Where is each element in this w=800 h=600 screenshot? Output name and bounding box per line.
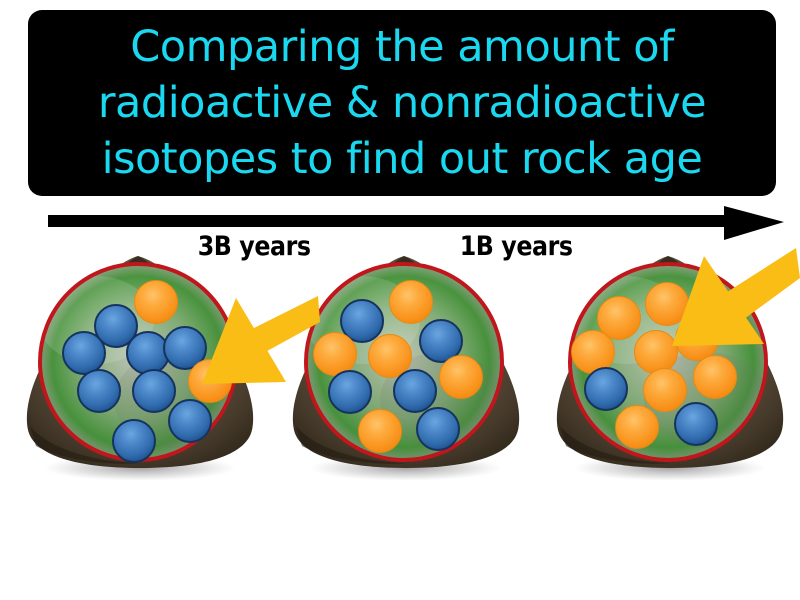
radioactive-isotope-sphere	[328, 370, 372, 414]
title-line-1: Comparing the amount of	[130, 19, 673, 75]
callout-arrow-icon-right	[668, 248, 800, 356]
timeline-arrow-icon	[48, 206, 784, 240]
radioactive-isotope-sphere	[132, 369, 176, 413]
nonradioactive-isotope-sphere	[615, 405, 659, 449]
radioactive-isotope-sphere	[416, 407, 460, 451]
title-line-2: radioactive & nonradioactive	[98, 75, 706, 131]
nonradioactive-isotope-sphere	[643, 368, 687, 412]
radioactive-isotope-sphere	[584, 367, 628, 411]
radioactive-isotope-sphere	[168, 399, 212, 443]
radioactive-isotope-sphere	[674, 402, 718, 446]
callout-arrow-icon-left	[200, 296, 320, 392]
nonradioactive-isotope-sphere	[693, 355, 737, 399]
nonradioactive-isotope-sphere	[439, 355, 483, 399]
radioactive-isotope-sphere	[393, 369, 437, 413]
title-banner: Comparing the amount of radioactive & no…	[28, 10, 776, 196]
radioactive-isotope-sphere	[77, 369, 121, 413]
radioactive-isotope-sphere	[112, 419, 156, 463]
title-line-3: isotopes to find out rock age	[102, 131, 703, 187]
nonradioactive-isotope-sphere	[134, 280, 178, 324]
nonradioactive-isotope-sphere	[358, 409, 402, 453]
nonradioactive-isotope-sphere	[389, 280, 433, 324]
